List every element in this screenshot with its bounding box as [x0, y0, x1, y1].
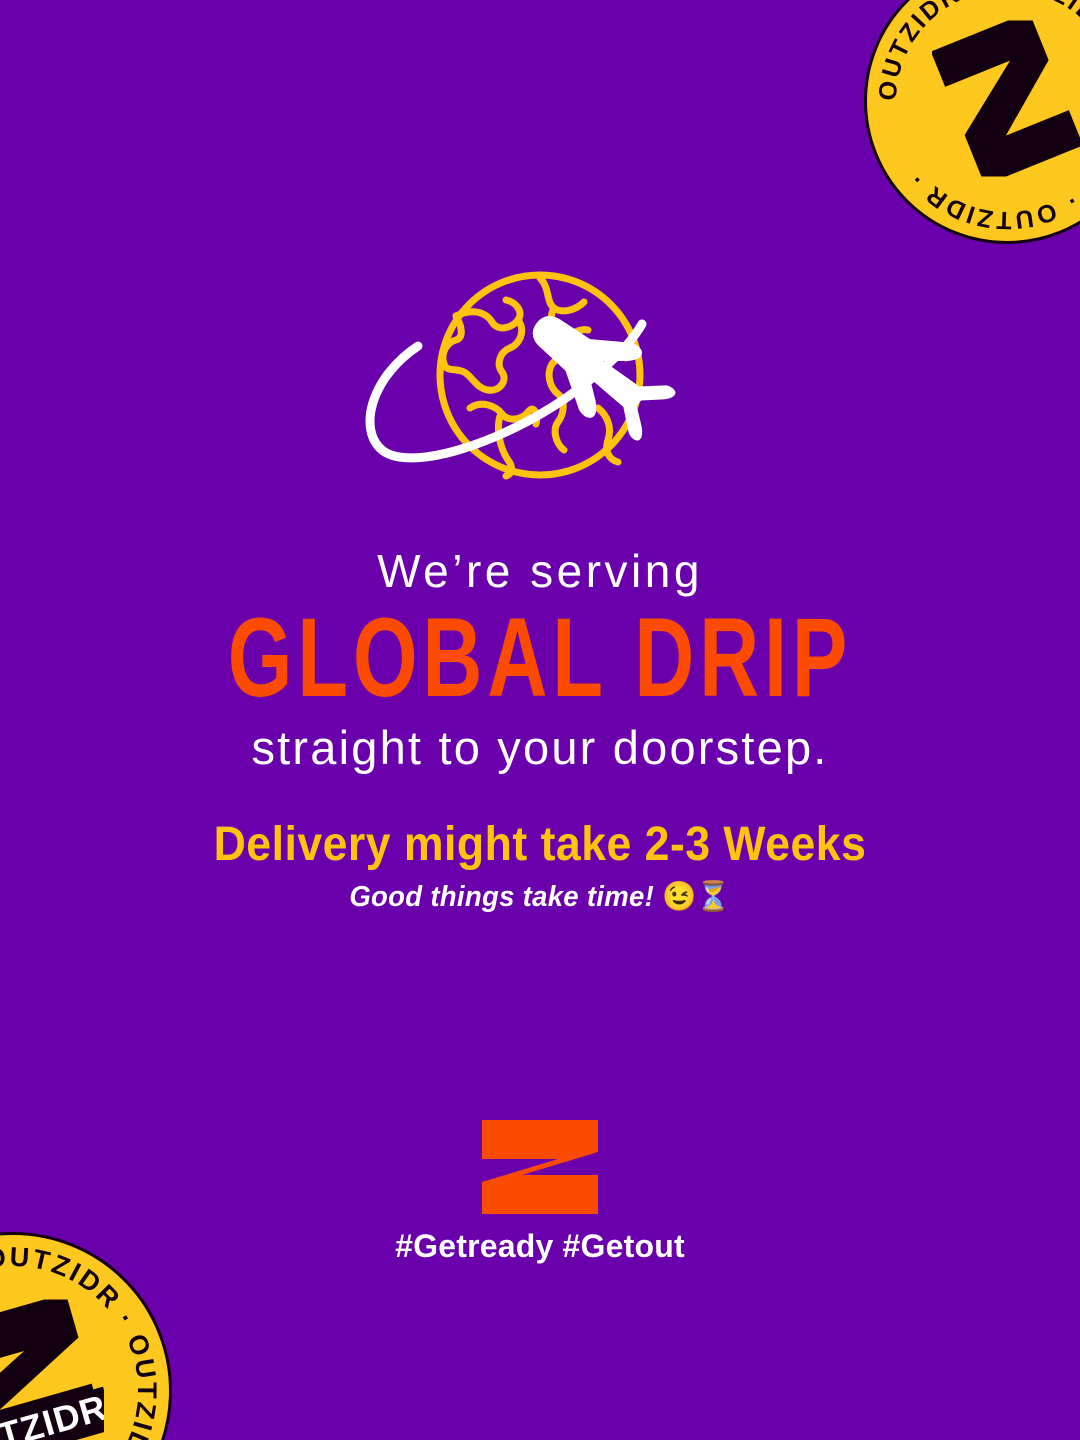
headline-global-drip: GLOBAL DRIP — [108, 602, 972, 714]
outzidr-z-mark-icon-bottom-left: OUTZIDR — [0, 1300, 104, 1440]
badge-bottom-left: OUTZIDR · OUTZIDR · OUTZIDR · OUTZIDR · … — [0, 1232, 172, 1440]
subline-text: straight to your doorstep. — [0, 724, 1080, 771]
hashtags-text: #Getready #Getout — [395, 1230, 685, 1262]
globe-with-airplane-icon — [360, 268, 720, 500]
reassurance-line: Good things take time! 😉⏳ — [27, 882, 1053, 912]
wink-hourglass-emoji: 😉⏳ — [662, 881, 731, 913]
eyebrow-text: We’re serving — [0, 548, 1080, 594]
reassurance-text: Good things take time! — [349, 881, 654, 913]
main-copy: We’re serving GLOBAL DRIP straight to yo… — [0, 548, 1080, 771]
hero-illustration — [0, 268, 1080, 500]
delivery-time-text: Delivery might take 2-3 Weeks — [38, 820, 1042, 870]
promo-poster: OUTZIDR · OUTZIDR · OUTZIDR · OUTZIDR · — [0, 0, 1080, 1440]
delivery-notice-block: Delivery might take 2-3 Weeks Good thing… — [0, 820, 1080, 913]
outzidr-z-logo-icon — [478, 1118, 602, 1216]
badge-top-right: OUTZIDR · OUTZIDR · OUTZIDR · OUTZIDR · — [864, 0, 1080, 244]
outzidr-z-mark-icon-top-right — [932, 21, 1080, 182]
